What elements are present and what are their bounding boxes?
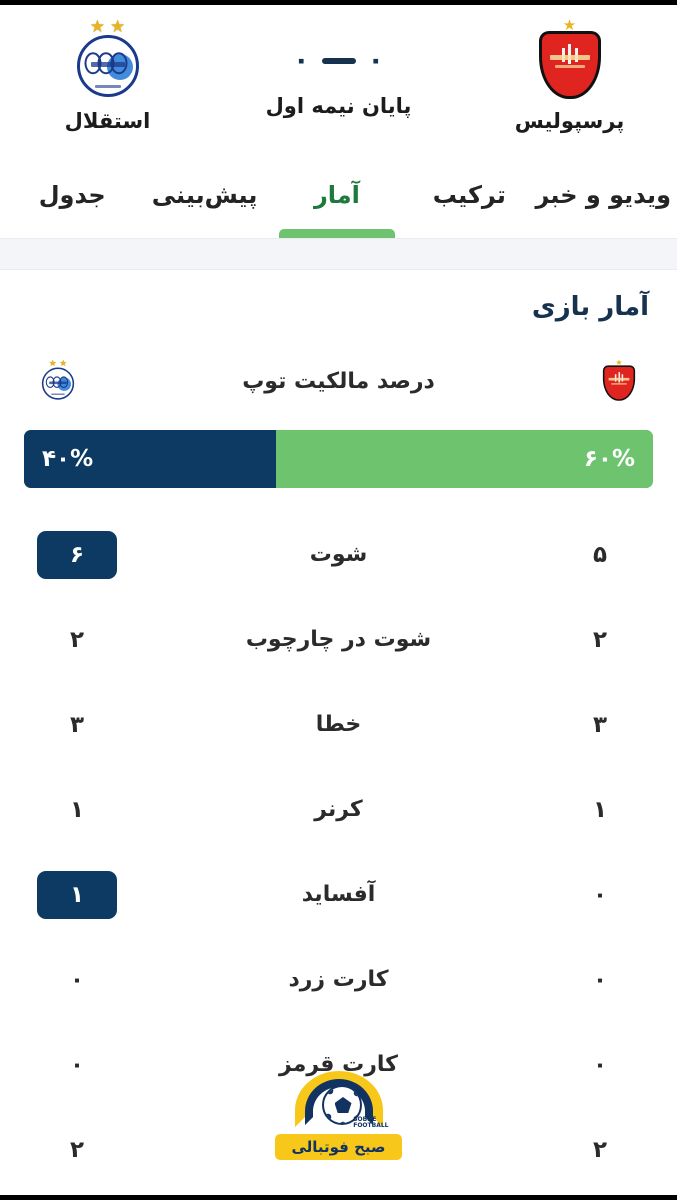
possession-header-row: ★ درصد مالکیت توپ ★★ [0,346,677,416]
stat-row-label: خطا [132,712,545,737]
stat-away-value: ۰ [545,967,655,993]
stat-row: ۰کارت قرمز۰ [0,1022,677,1107]
stat-home-value: ۳ [22,712,132,738]
device-bottom-bar [0,1195,677,1200]
score-block: ۰ ۰ پایان نیمه اول [215,5,462,118]
device-top-bar [0,0,677,5]
stat-away-value: ۰ [545,1052,655,1078]
esteghlal-crest-mini-icon: ★★ [39,359,76,403]
stat-row-label: شوت در چارچوب [132,627,545,652]
possession-bar: ۴۰% ۶۰% [24,430,653,488]
away-team-name: پرسپولیس [515,109,624,133]
stat-away-value: ۲ [545,627,655,653]
tab-prediction[interactable]: پیش‌بینی [138,165,270,238]
stat-home-value: ۱ [22,871,132,919]
score-home: ۰ [368,47,384,74]
stat-row-label: کرنر [132,797,545,822]
possession-home-value: ۴۰% [42,446,93,472]
score-away: ۰ [293,47,309,74]
tab-table[interactable]: جدول [6,165,138,238]
tab-stats-label: آمار [314,181,360,209]
home-team-name: استقلال [65,109,151,133]
stat-row-label: آفساید [132,882,545,907]
stat-row-label: شوت [132,542,545,567]
stat-away-value: ۵ [545,542,655,568]
stat-row: ۲شوت در چارچوب۲ [0,597,677,682]
tab-lineup[interactable]: ترکیب [403,165,535,238]
stat-away-value: ۱ [545,797,655,823]
away-crest-mini: ★ [583,346,655,416]
stat-row: ۰کارت زرد۰ [0,937,677,1022]
away-team-block[interactable]: ★ پرسپولیس [462,5,677,133]
stat-row: ۰آفساید۱ [0,852,677,937]
stats-card: آمار بازی ★ درصد مالکیت توپ ★★ [0,270,677,1195]
stat-home-badge: ۱ [37,871,117,919]
score-dash-icon [322,58,356,64]
stat-home-value: ۲ [22,627,132,653]
section-separator [0,238,677,270]
tab-bar: ویدیو و خبر ترکیب آمار پیش‌بینی جدول [0,165,677,238]
possession-bar-away-segment: ۶۰% [276,430,653,488]
tab-video-news-label: ویدیو و خبر [535,181,671,209]
tab-prediction-label: پیش‌بینی [152,181,258,209]
tab-table-label: جدول [39,181,106,209]
home-crest-mini: ★★ [22,346,94,416]
possession-label: درصد مالکیت توپ [94,369,583,394]
scoreboard-header: ★ پرسپولیس ۰ ۰ پایان نیمه اول ★★ [0,5,677,165]
stat-row-label: کارت زرد [132,967,545,992]
app-screen: ★ پرسپولیس ۰ ۰ پایان نیمه اول ★★ [0,0,677,1200]
score-line: ۰ ۰ [293,47,384,74]
stat-home-value: ۰ [22,967,132,993]
tab-stats[interactable]: آمار [271,165,403,238]
stat-away-value: ۳ [545,712,655,738]
tab-lineup-label: ترکیب [433,181,506,209]
stat-rows-list: ۵شوت۶۲شوت در چارچوب۲۳خطا۳۱کرنر۱۰آفساید۱۰… [0,512,677,1192]
persepolis-crest-mini-icon: ★ [600,359,637,403]
stat-row: ۳خطا۳ [0,682,677,767]
stat-away-value: ۰ [545,882,655,908]
stat-row: ۲۲ [0,1107,677,1192]
stat-home-value: ۱ [22,797,132,823]
possession-bar-home-segment: ۴۰% [24,430,276,488]
possession-away-value: ۶۰% [584,446,635,472]
stat-home-value: ۶ [22,531,132,579]
stat-away-value: ۲ [545,1137,655,1163]
stat-row-label: کارت قرمز [132,1052,545,1077]
persepolis-crest-icon: ★ [533,19,607,103]
stat-home-value: ۲ [22,1137,132,1163]
stat-home-value: ۰ [22,1052,132,1078]
stat-row: ۵شوت۶ [0,512,677,597]
stats-title: آمار بازی [0,292,677,322]
home-team-block[interactable]: ★★ استقلال [0,5,215,133]
stat-home-badge: ۶ [37,531,117,579]
match-status: پایان نیمه اول [266,94,412,118]
tab-video-news[interactable]: ویدیو و خبر [535,165,671,238]
esteghlal-crest-icon: ★★ [69,19,147,103]
stat-row: ۱کرنر۱ [0,767,677,852]
